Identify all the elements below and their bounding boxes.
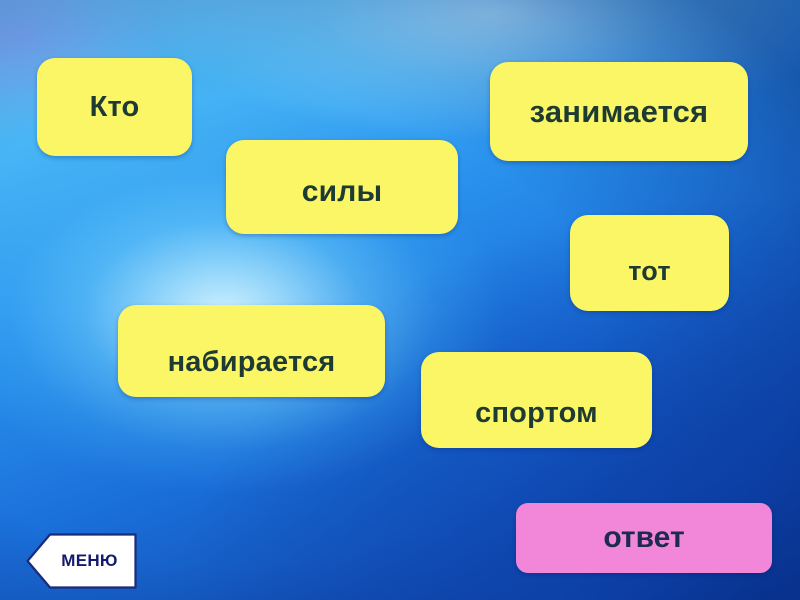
answer-button-label: ответ: [603, 521, 684, 555]
menu-button[interactable]: МЕНЮ: [26, 532, 137, 590]
word-tile-label: тот: [628, 256, 671, 287]
word-tile-sily[interactable]: силы: [226, 140, 458, 234]
word-tile-label: силы: [302, 175, 383, 209]
answer-button[interactable]: ответ: [516, 503, 772, 573]
word-tile-label: набирается: [168, 346, 336, 379]
word-tile-zanimaetsya[interactable]: занимается: [490, 62, 748, 161]
word-tile-label: занимается: [530, 94, 709, 130]
word-tile-label: спортом: [475, 397, 598, 430]
word-tile-kto[interactable]: Кто: [37, 58, 192, 156]
menu-button-label: МЕНЮ: [26, 532, 137, 590]
word-tile-nabiraetsya[interactable]: набирается: [118, 305, 385, 397]
word-tile-tot[interactable]: тот: [570, 215, 729, 311]
slide-canvas: Кто занимается силы тот набирается спорт…: [0, 0, 800, 600]
word-tile-label: Кто: [90, 91, 140, 124]
word-tile-sportom[interactable]: спортом: [421, 352, 652, 448]
